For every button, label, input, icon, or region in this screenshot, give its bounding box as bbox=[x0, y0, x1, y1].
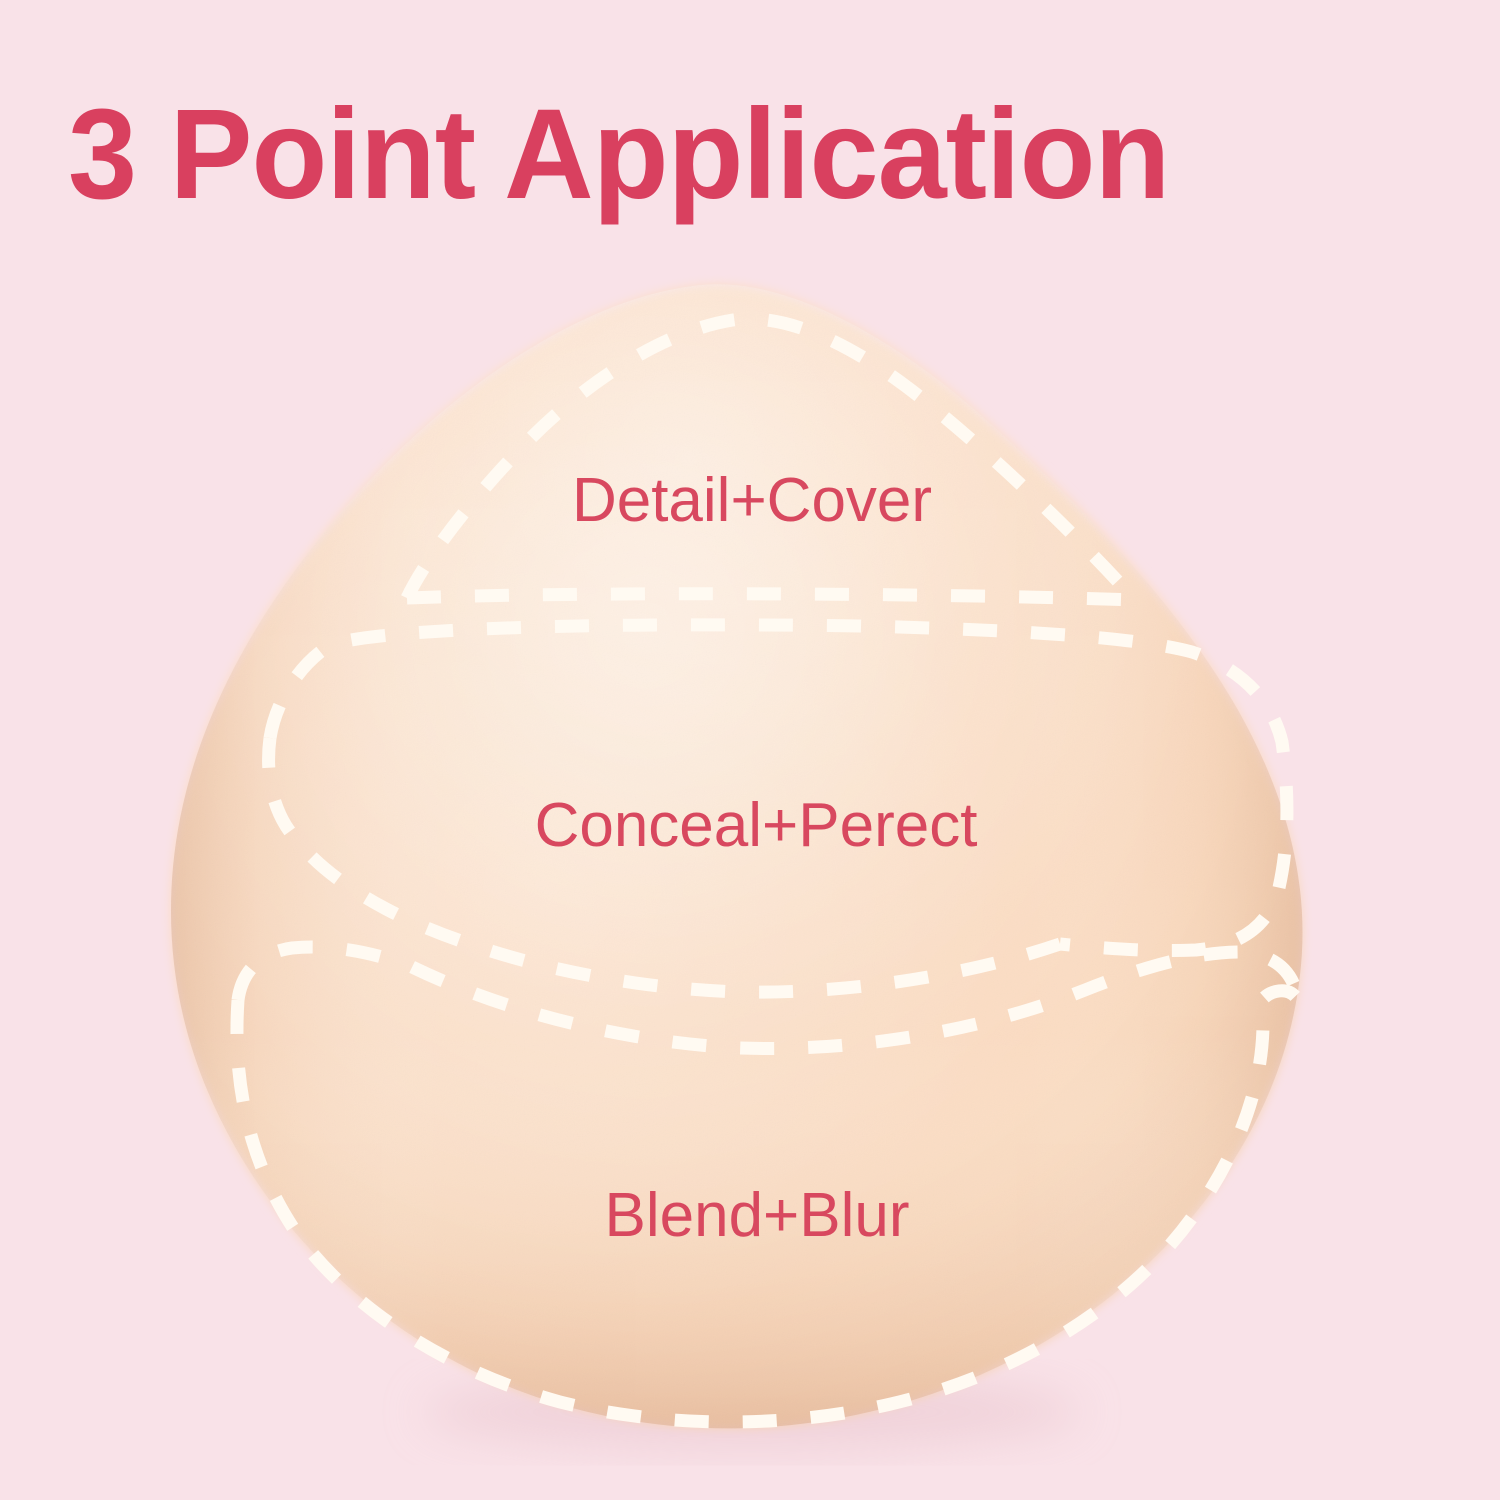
zone-label-detail-cover: Detail+Cover bbox=[572, 465, 932, 536]
sponge-illustration bbox=[0, 0, 1500, 1500]
infographic-canvas: 3 Point Application bbox=[0, 0, 1500, 1500]
sponge-icon bbox=[0, 0, 1500, 1500]
zone-label-blend-blur: Blend+Blur bbox=[604, 1180, 909, 1251]
zone-label-conceal-perect: Conceal+Perect bbox=[535, 790, 978, 861]
